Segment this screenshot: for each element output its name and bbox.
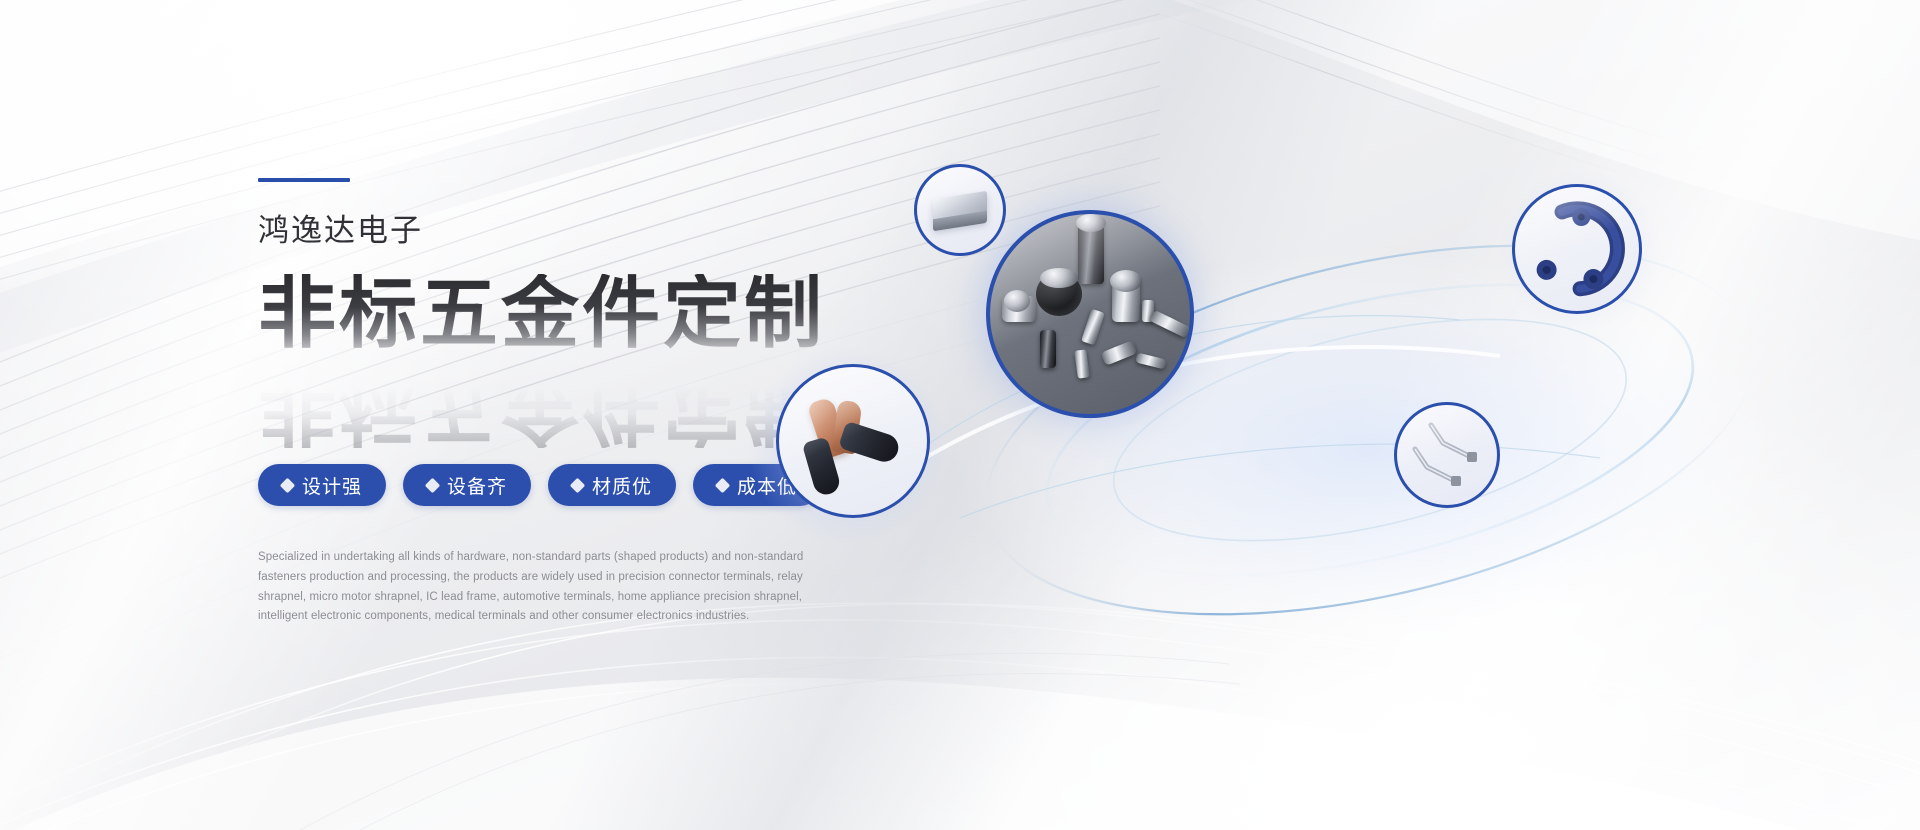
terminal-pin-shape <box>1397 405 1497 505</box>
brand-name: 鸿逸达电子 <box>258 214 958 248</box>
product-showcase <box>900 150 1910 670</box>
feature-tag-design[interactable]: 设计强 <box>258 464 386 506</box>
bubble-bent-terminal-pins[interactable] <box>1394 402 1500 508</box>
feature-tag-material[interactable]: 材质优 <box>548 464 676 506</box>
retaining-ring-shape <box>1515 187 1639 311</box>
diamond-bullet-icon <box>715 477 731 493</box>
accent-rule <box>258 178 350 182</box>
company-description: Specialized in undertaking all kinds of … <box>258 548 816 627</box>
feature-tag-label: 设计强 <box>302 472 362 499</box>
diamond-bullet-icon <box>425 477 441 493</box>
bubble-blue-retaining-ring[interactable] <box>1512 184 1642 314</box>
feature-tag-label: 设备齐 <box>447 472 507 499</box>
feature-tag-label: 材质优 <box>592 472 652 499</box>
hero-banner: 鸿逸达电子 非标五金件定制 非标五金件定制 设计强 设备齐 材质优 成本低 <box>0 0 1920 830</box>
page-title: 非标五金件定制 <box>258 274 958 352</box>
diamond-bullet-icon <box>280 477 296 493</box>
bubble-copper-battery-clamp[interactable] <box>776 364 930 518</box>
page-title-reflection: 非标五金件定制 <box>258 370 825 448</box>
feature-tag-equipment[interactable]: 设备齐 <box>403 464 531 506</box>
diamond-bullet-icon <box>570 477 586 493</box>
bubble-metal-shielding-case[interactable] <box>914 164 1006 256</box>
bubble-precision-metal-parts[interactable] <box>986 210 1194 418</box>
